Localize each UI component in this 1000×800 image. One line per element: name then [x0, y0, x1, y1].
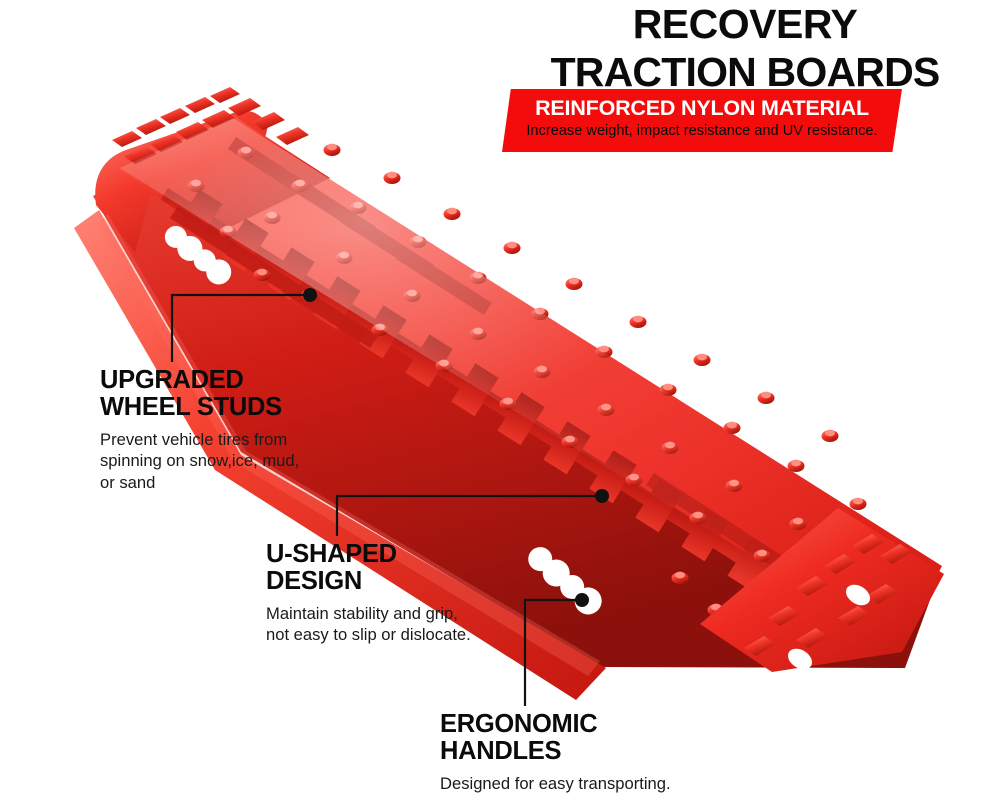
banner-subtext: Increase weight, impact resistance and U… — [502, 120, 902, 140]
leader-line-u-shaped-design — [337, 496, 602, 536]
callout-title: UPGRADED WHEEL STUDS — [100, 367, 375, 422]
leader-line-upgraded-wheel-studs — [172, 295, 310, 362]
callout-body: Prevent vehicle tires from spinning on s… — [100, 429, 375, 495]
infographic-canvas: RECOVERY TRACTION BOARDS REINFORCED NYLO… — [0, 0, 1000, 800]
callout-ergonomic-handles: ERGONOMIC HANDLES Designed for easy tran… — [440, 711, 730, 794]
callout-body: Designed for easy transporting. — [440, 773, 730, 795]
callout-title: ERGONOMIC HANDLES — [440, 711, 730, 766]
callout-u-shaped-design: U-SHAPED DESIGN Maintain stability and g… — [266, 541, 534, 646]
callout-dot-upgraded-wheel-studs — [303, 288, 317, 302]
header-block: RECOVERY TRACTION BOARDS REINFORCED NYLO… — [490, 0, 1000, 160]
material-banner: REINFORCED NYLON MATERIAL Increase weigh… — [502, 89, 902, 152]
page-title-line-2: TRACTION BOARDS — [490, 52, 1000, 93]
page-title-line-1: RECOVERY — [490, 4, 1000, 45]
banner-headline: REINFORCED NYLON MATERIAL — [502, 89, 902, 120]
callout-dot-u-shaped-design — [595, 489, 609, 503]
callout-body: Maintain stability and grip, not easy to… — [266, 603, 534, 647]
callout-title: U-SHAPED DESIGN — [266, 541, 534, 596]
callout-dot-ergonomic-handles — [575, 593, 589, 607]
callout-upgraded-wheel-studs: UPGRADED WHEEL STUDS Prevent vehicle tir… — [100, 367, 375, 494]
